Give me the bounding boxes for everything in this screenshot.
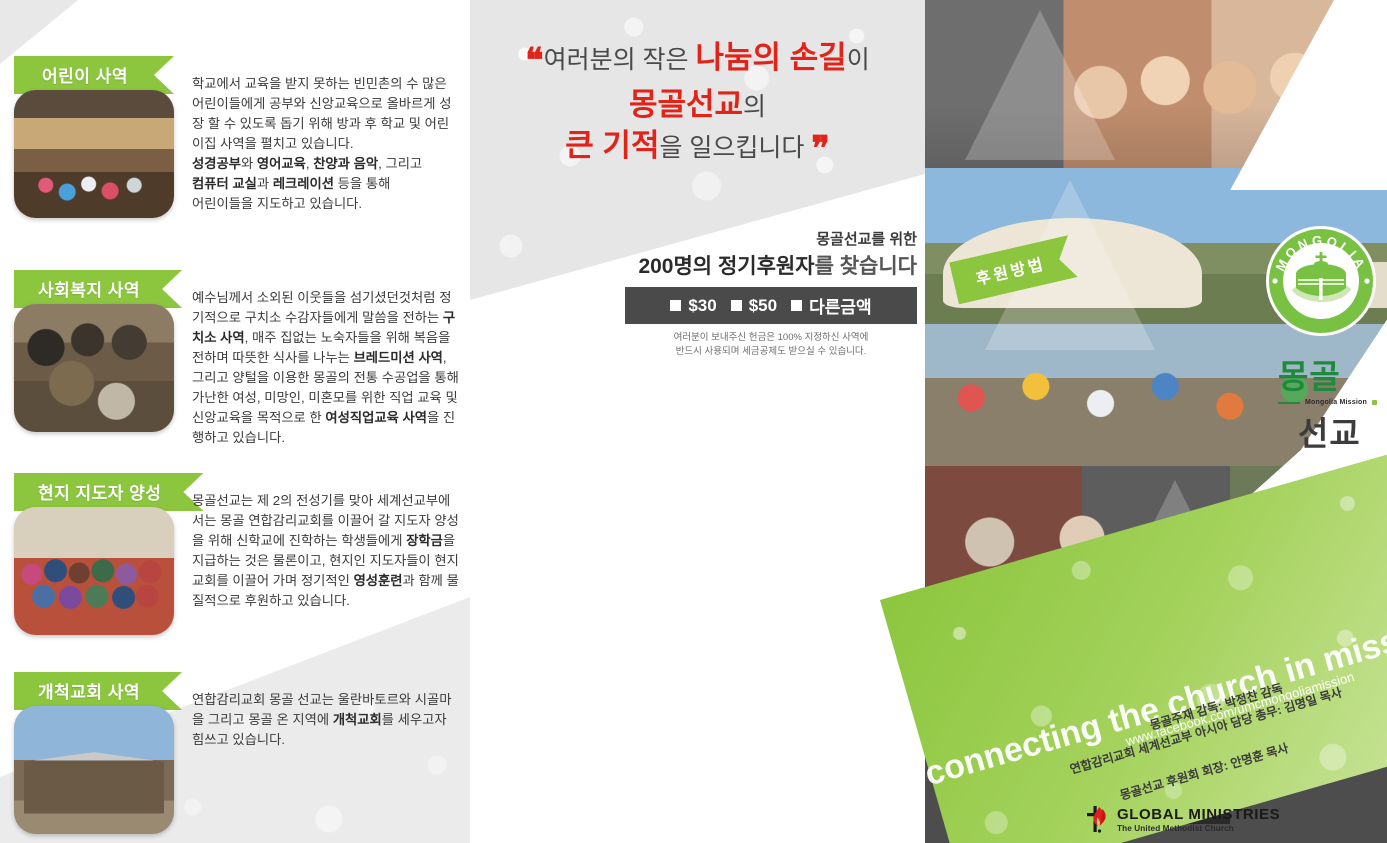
section-body-leader-training: 몽골선교는 제 2의 전성기를 맞아 세계선교부에서는 몽골 연합감리교회를 이… [192,491,460,611]
quote-highlight-sharing: 나눔의 손길 [695,40,846,75]
amount-option-50[interactable]: $50 [731,296,777,316]
body-tail: 어린이들을 지도하고 있습니다. [192,196,362,211]
amount-label-other: 다른금액 [809,293,872,318]
section-children-ministry: 어린이 사역 학교에서 교육을 받지 못하는 빈민촌의 수 많은 어린이들에게 … [0,56,470,94]
section-tab-church-planting[interactable]: 개척교회 사역 [14,672,182,710]
section-social-welfare: 사회복지 사역 예수님께서 소외된 이웃들을 섬기셨던것처럼 정기적으로 구치소… [0,270,470,308]
keyword-scholarship: 장학금 [406,533,443,548]
wordmark-line-2: 선교 [1298,407,1380,455]
keyword-recreation: 레크레이션 [273,176,334,191]
keyword-bible-study: 성경공부 [192,156,241,171]
photo-church-building [14,706,174,834]
donation-headline-big: 200명의 정기후원자를 찾습니다 [625,250,917,280]
keyword-bread-mission: 브레드미션 사역 [354,350,443,365]
keyword-women-vocational: 여성직업교육 사역 [325,410,427,425]
global-ministries-logo: GLOBAL MINISTRIES The United Methodist C… [1082,804,1280,834]
photo-meal-service [14,304,174,432]
photo-art [14,90,174,218]
section-tab-leader-training[interactable]: 현지 지도자 양성 [14,473,203,511]
donation-headline-block: 몽골선교를 위한 200명의 정기후원자를 찾습니다 $30 $50 다른금액 [625,228,917,359]
wordmark-dot [1372,400,1377,405]
mongolia-mission-badge-logo: MONGOLIA MISSION [1262,222,1380,340]
keyword-computer-class: 컴퓨터 교실 [192,176,257,191]
quote-line-1: ❝여러분의 작은 나눔의 손길이 [470,38,925,85]
section-tab-social-welfare[interactable]: 사회복지 사역 [14,270,182,308]
donation-goal-count: 200명의 정기후원자 [638,255,814,278]
wordmark-divider-row: Mongolia Mission [1278,399,1380,406]
center-donation-panel: ❝여러분의 작은 나눔의 손길이 몽골선교의 큰 기적을 일으킵니다 ❞ 몽골선… [470,0,925,843]
quote-open-mark: ❝ [525,43,543,80]
section-body-children: 학교에서 교육을 받지 못하는 빈민촌의 수 많은 어린이들에게 공부와 신앙교… [192,74,460,214]
checkbox-icon[interactable] [670,300,681,311]
section-body-church-planting: 연합감리교회 몽골 선교는 울란바토르와 시골마을 그리고 몽골 온 지역에 개… [192,690,460,750]
quote-close-mark: ❞ [811,131,829,168]
quote-highlight-miracle: 큰 기적 [565,128,659,163]
quote-highlight-mongolia-mission: 몽골선교 [629,87,743,122]
photo-art [14,507,174,635]
korean-wordmark: 몽골 Mongolia Mission 선교 [1264,350,1380,455]
keyword-spiritual-training: 영성훈련 [354,573,403,588]
photo-leaders-group [14,507,174,635]
photo-children-hall [14,90,174,218]
keyword-music: 찬양과 음악 [313,156,378,171]
headline-quote: ❝여러분의 작은 나눔의 손길이 몽골선교의 큰 기적을 일으킵니다 ❞ [470,38,925,173]
amount-option-other[interactable]: 다른금액 [791,293,872,318]
amount-label-50: $50 [749,296,777,316]
section-tab-children[interactable]: 어린이 사역 [14,56,174,94]
section-body-social-welfare: 예수님께서 소외된 이웃들을 섬기셨던것처럼 정기적으로 구치소 수감자들에게 … [192,288,460,448]
quote-line-3: 큰 기적을 일으킵니다 ❞ [470,126,925,173]
photo-art [14,706,174,834]
logo-title: GLOBAL MINISTRIES [1117,806,1280,823]
checkbox-icon[interactable] [791,300,802,311]
left-ministries-panel: 어린이 사역 학교에서 교육을 받지 못하는 빈민촌의 수 많은 어린이들에게 … [0,0,470,843]
brochure-page: 어린이 사역 학교에서 교육을 받지 못하는 빈민촌의 수 많은 어린이들에게 … [0,0,1387,843]
quote-line-2: 몽골선교의 [470,85,925,126]
keyword-church-planting: 개척교회 [333,712,382,727]
photo-children-praying [925,0,1387,168]
wordmark-line-1: 몽골 [1278,350,1380,398]
keyword-english: 영어교육 [257,156,306,171]
donation-amount-bar[interactable]: $30 $50 다른금액 [625,287,917,324]
body-paragraph: 예수님께서 소외된 이웃들을 섬기셨던것처럼 정기적으로 구치소 수감자들에게 … [192,290,451,325]
tax-deduction-note: 여러분이 보내주신 헌금은 100% 지정하신 사역에 반드시 사용되며 세금공… [625,331,917,359]
section-church-planting: 개척교회 사역 연합감리교회 몽골 선교는 울란바토르와 시골마을 그리고 몽골… [0,672,470,710]
amount-option-30[interactable]: $30 [670,296,716,316]
checkbox-icon[interactable] [731,300,742,311]
amount-label-30: $30 [688,296,716,316]
logo-subtitle: The United Methodist Church [1117,824,1280,833]
photo-art [14,304,174,432]
logo-text-block: GLOBAL MINISTRIES The United Methodist C… [1117,806,1280,833]
wordmark-subtitle: Mongolia Mission [1305,399,1367,406]
wordmark-rule [1278,402,1300,404]
body-paragraph: 학교에서 교육을 받지 못하는 빈민촌의 수 많은 어린이들에게 공부와 신앙교… [192,76,451,151]
cross-and-flame-icon [1082,804,1108,834]
donation-headline-small: 몽골선교를 위한 [625,228,917,249]
section-leader-training: 현지 지도자 양성 몽골선교는 제 2의 전성기를 맞아 세계선교부에서는 몽골… [0,473,470,511]
